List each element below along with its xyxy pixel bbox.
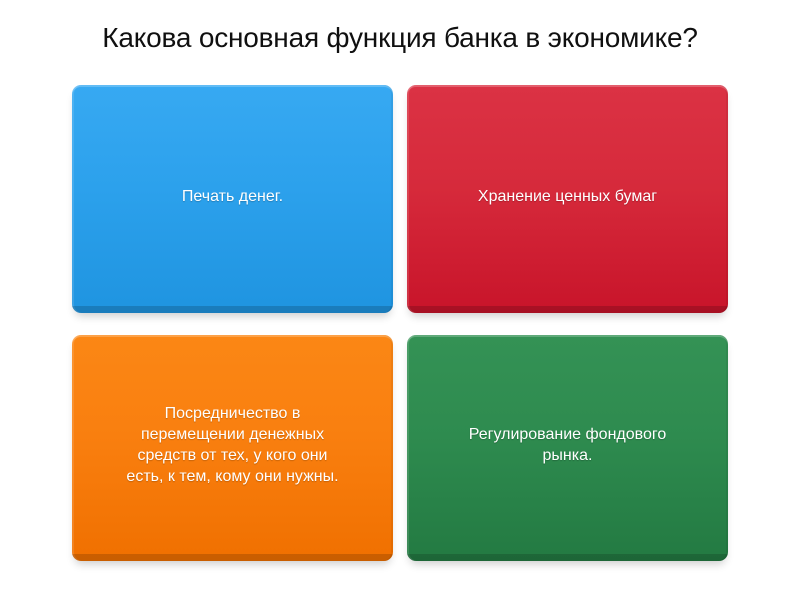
answer-label: Печать денег. (182, 186, 283, 207)
answer-options-grid: Печать денег. Хранение ценных бумаг Поср… (72, 85, 728, 561)
answer-label: Регулирование фондового рынка. (453, 424, 683, 466)
answer-label: Хранение ценных бумаг (478, 186, 657, 207)
answer-card-blue[interactable]: Печать денег. (72, 85, 393, 313)
page-title: Какова основная функция банка в экономик… (0, 20, 800, 56)
quiz-question-screen: Какова основная функция банка в экономик… (0, 0, 800, 600)
answer-label: Посредничество в перемещении денежных ср… (125, 403, 340, 487)
answer-card-orange[interactable]: Посредничество в перемещении денежных ср… (72, 335, 393, 561)
answer-card-green[interactable]: Регулирование фондового рынка. (407, 335, 728, 561)
answer-card-red[interactable]: Хранение ценных бумаг (407, 85, 728, 313)
